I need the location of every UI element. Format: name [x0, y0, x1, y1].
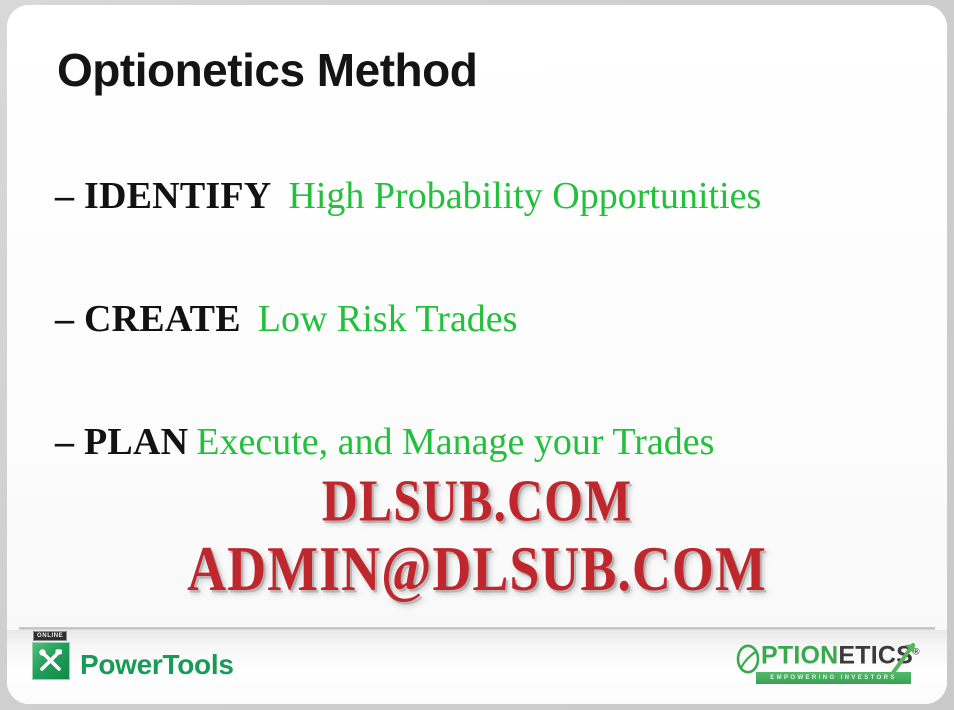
slide-content: Optionetics Method –IDENTIFYHigh Probabi… — [7, 5, 947, 704]
optionetics-tagline: EMPOWERING INVESTORS — [756, 672, 911, 684]
powertools-square — [32, 642, 70, 680]
crossed-tools-icon — [36, 646, 66, 676]
bullet-keyword-identify: IDENTIFY — [84, 175, 271, 217]
bullet-detail-identify: High Probability Opportunities — [288, 175, 761, 217]
slide-canvas: Optionetics Method –IDENTIFYHigh Probabi… — [7, 5, 947, 704]
bullet-keyword-plan: PLAN — [84, 421, 188, 463]
bullet-item-plan: –PLANExecute, and Manage your Trades — [55, 423, 714, 461]
page-title: Optionetics Method — [57, 43, 477, 97]
optionetics-leaf-o-icon — [736, 644, 760, 674]
optionetics-wordmark-ption: PTION — [761, 642, 838, 670]
optionetics-logo: PTIONETICS® EMPOWERING INVESTORS — [736, 642, 921, 690]
online-badge: ONLINE — [33, 631, 67, 641]
powertools-wordmark-tools: Tools — [163, 649, 234, 680]
watermark-overlay: DLSUB.COM ADMIN@DLSUB.COM — [7, 471, 947, 592]
powertools-wordmark: PowerTools — [80, 652, 234, 679]
slide-frame: Optionetics Method –IDENTIFYHigh Probabi… — [0, 0, 954, 710]
watermark-contact-email: ADMIN@DLSUB.COM — [7, 537, 947, 602]
bullet-dash-icon: – — [55, 421, 74, 463]
powertools-mark: ONLINE — [32, 642, 68, 678]
footer-bar: ONLINE PowerTools — [7, 630, 947, 704]
watermark-site-url: DLSUB.COM — [7, 471, 947, 531]
bullet-dash-icon: – — [55, 298, 74, 340]
bullet-detail-plan: Execute, and Manage your Trades — [196, 421, 714, 463]
powertools-logo: ONLINE PowerTools — [32, 642, 234, 679]
bullet-keyword-create: CREATE — [84, 298, 241, 340]
bullet-dash-icon: – — [55, 175, 74, 217]
bullet-item-identify: –IDENTIFYHigh Probability Opportunities — [55, 177, 761, 215]
bullet-item-create: –CREATELow Risk Trades — [55, 300, 517, 338]
powertools-wordmark-power: Power — [80, 649, 163, 680]
bullet-detail-create: Low Risk Trades — [258, 298, 518, 340]
